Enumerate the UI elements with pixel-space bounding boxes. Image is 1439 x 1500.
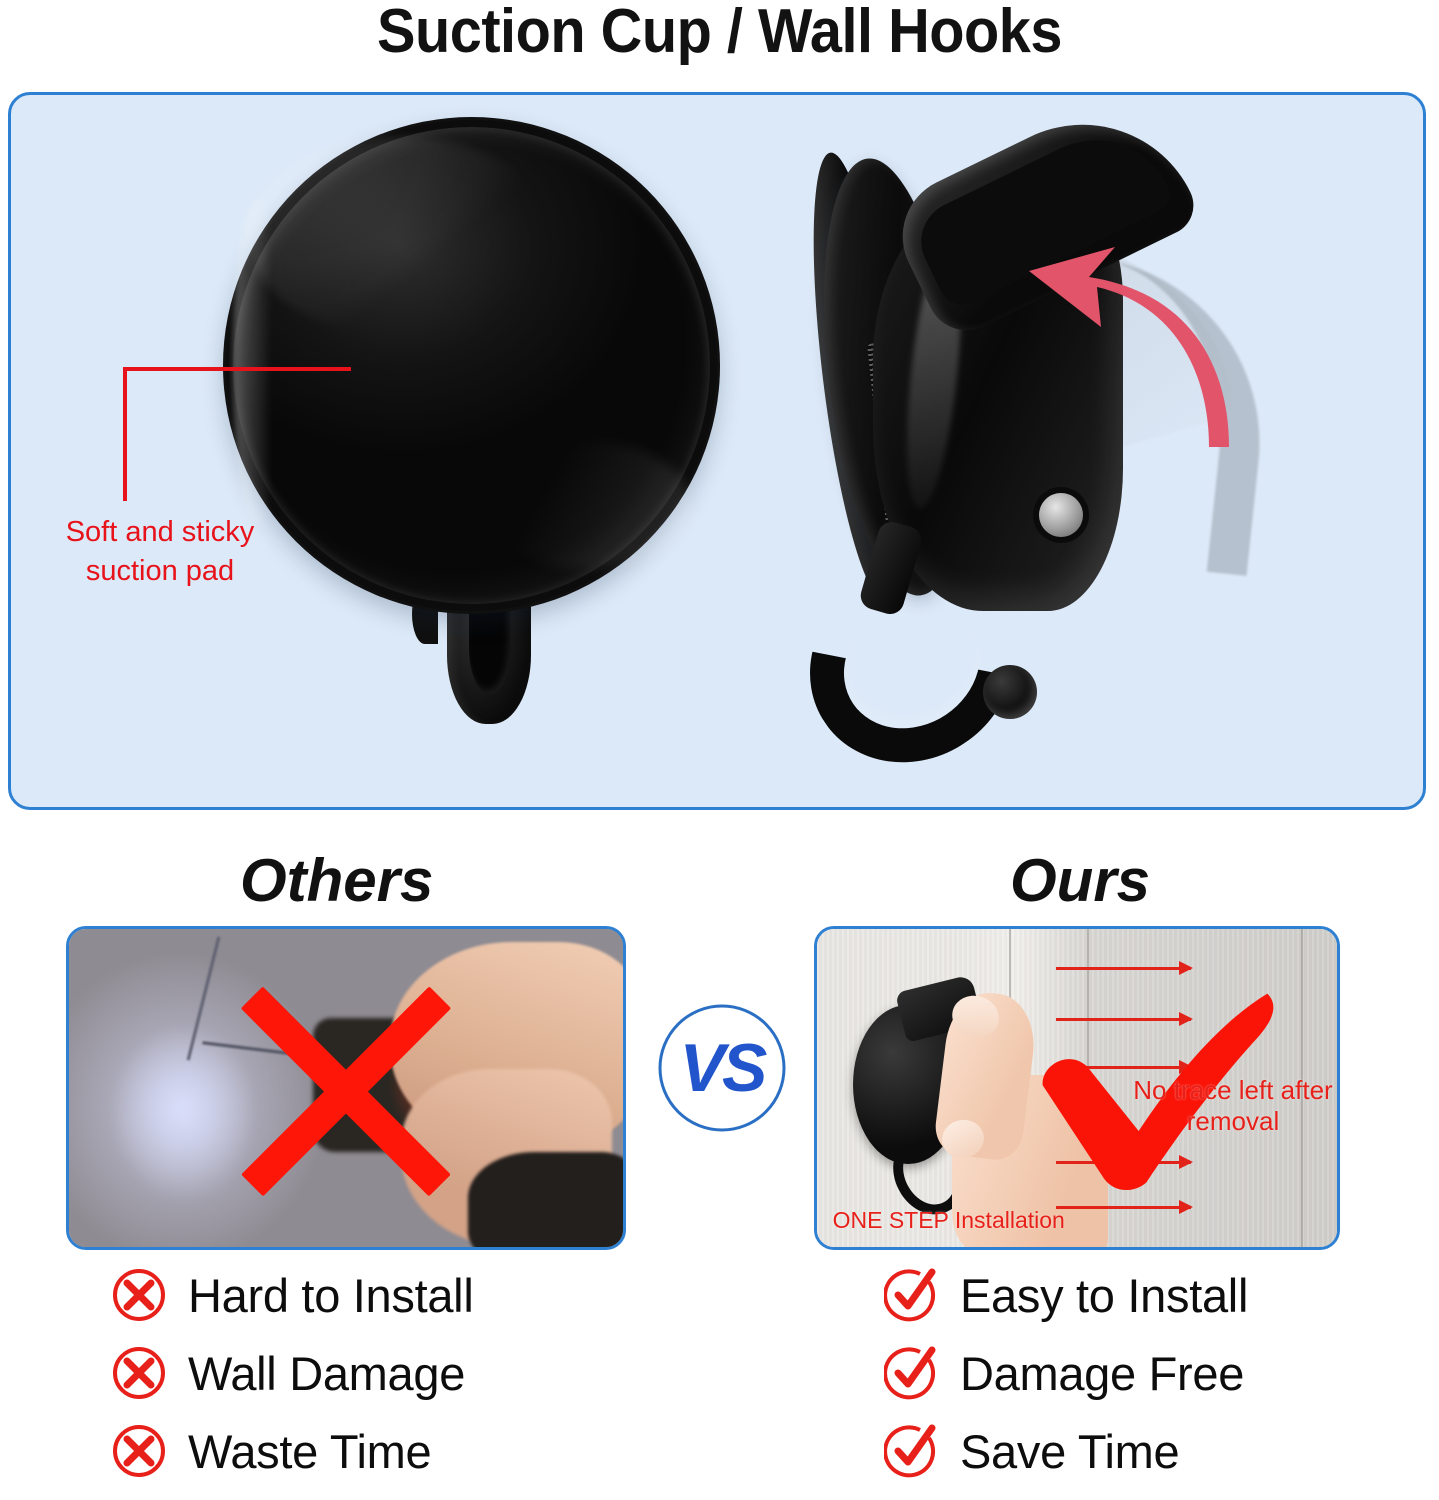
lever-pivot-screw [1039, 493, 1083, 537]
callout-leader-line [119, 367, 347, 501]
list-item-label: Save Time [960, 1424, 1179, 1479]
ours-photo: No trace left after removal ONE STEP Ins… [814, 926, 1340, 1250]
list-item-label: Waste Time [188, 1424, 431, 1479]
callout-no-trace: No trace left after removal [1129, 1075, 1337, 1137]
others-photo [66, 926, 626, 1250]
page-title: Suction Cup / Wall Hooks [50, 0, 1388, 67]
gloss-highlight [248, 137, 556, 336]
list-item: Waste Time [112, 1422, 473, 1480]
list-item-label: Easy to Install [960, 1268, 1248, 1323]
hero-product-panel: Soft and sticky suction pad [8, 92, 1426, 810]
list-item: Save Time [884, 1422, 1248, 1480]
vs-badge: VS [652, 998, 792, 1138]
hook-ball-tip [983, 665, 1037, 719]
leader-vertical [123, 367, 127, 501]
curved-arrow-icon [1023, 235, 1243, 455]
ours-scene: No trace left after removal ONE STEP Ins… [817, 929, 1337, 1247]
circle-check-icon [884, 1346, 938, 1400]
circle-x-icon [112, 1346, 166, 1400]
others-bullet-list: Hard to Install Wall Damage Waste Time [112, 1266, 473, 1480]
callout-one-step: ONE STEP Installation [833, 1207, 1065, 1235]
heading-others: Others [240, 846, 433, 915]
circle-check-icon [884, 1268, 938, 1322]
ours-bullet-list: Easy to Install Damage Free Save Time [884, 1266, 1248, 1480]
pointer-arrow-5 [1056, 1206, 1191, 1209]
list-item-label: Damage Free [960, 1346, 1244, 1401]
leader-horizontal [123, 367, 351, 371]
callout-suction-pad: Soft and sticky suction pad [25, 513, 295, 591]
side-hook [807, 569, 1057, 789]
circle-x-icon [112, 1424, 166, 1478]
list-item-label: Wall Damage [188, 1346, 465, 1401]
circle-check-icon [884, 1424, 938, 1478]
list-item: Easy to Install [884, 1266, 1248, 1324]
infographic-root: Suction Cup / Wall Hooks Soft and sticky… [0, 0, 1439, 1500]
circle-x-icon [112, 1268, 166, 1322]
heading-ours: Ours [1010, 846, 1150, 915]
vs-label: VS [652, 998, 792, 1138]
list-item: Hard to Install [112, 1266, 473, 1324]
list-item-label: Hard to Install [188, 1268, 473, 1323]
list-item: Damage Free [884, 1344, 1248, 1402]
pointer-arrow-1 [1056, 967, 1191, 970]
sleeve [468, 1152, 626, 1250]
list-item: Wall Damage [112, 1344, 473, 1402]
red-x-overlay-icon [213, 986, 479, 1190]
